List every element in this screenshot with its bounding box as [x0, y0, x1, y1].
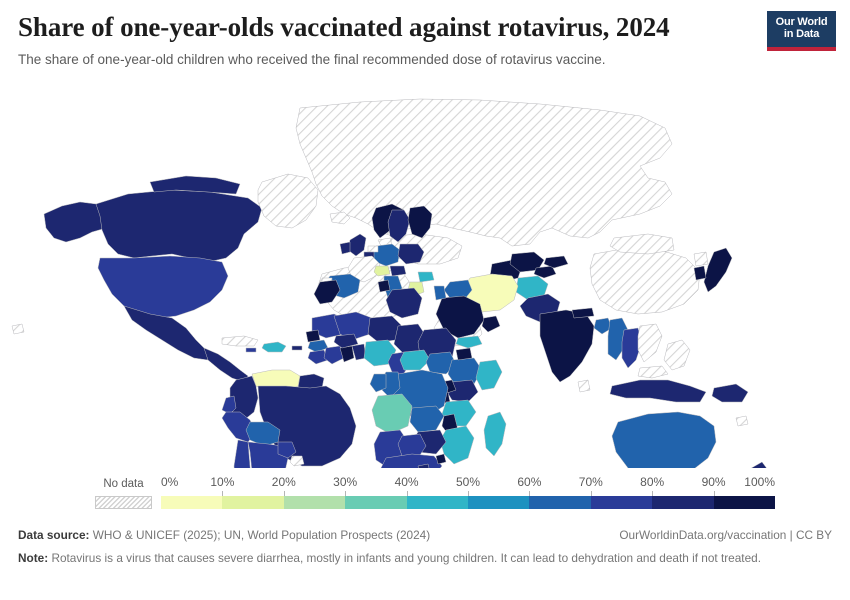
world-map-svg[interactable]	[0, 86, 850, 468]
legend-tick-mark	[591, 491, 592, 496]
country-kyrgyzstan[interactable]	[544, 256, 568, 268]
country-indonesia[interactable]	[610, 380, 706, 402]
legend-bin-50-60[interactable]	[468, 496, 529, 509]
legend-tick-label: 40%	[395, 475, 419, 489]
country-oman[interactable]	[482, 316, 500, 332]
country-tunisia[interactable]	[378, 280, 390, 292]
country-united-states[interactable]	[98, 256, 228, 318]
country-south-korea[interactable]	[694, 266, 706, 280]
country-fiji-pacific-islands[interactable]	[736, 416, 748, 426]
country-ghana[interactable]	[340, 346, 354, 362]
country-vietnam-laos-cambodia[interactable]	[638, 324, 662, 362]
owid-link[interactable]: OurWorldinData.org/vaccination | CC BY	[619, 528, 832, 542]
country-cuba[interactable]	[222, 336, 258, 346]
legend-bin-30-40[interactable]	[345, 496, 406, 509]
legend-tick-label: 30%	[333, 475, 357, 489]
country-madagascar[interactable]	[484, 412, 506, 456]
chart-header: Share of one-year-olds vaccinated agains…	[0, 0, 850, 82]
owid-logo[interactable]: Our World in Data	[767, 11, 836, 51]
country-poland[interactable]	[398, 244, 424, 264]
country-small-islands-atlantic[interactable]	[12, 324, 24, 334]
country-sri-lanka[interactable]	[578, 380, 590, 392]
legend-tick-label: 60%	[517, 475, 541, 489]
legend-tick-label: 80%	[640, 475, 664, 489]
country-guinea[interactable]	[308, 340, 328, 352]
legend-tick-label: 100%	[744, 475, 775, 489]
legend-tick-label: 50%	[456, 475, 480, 489]
country-angola[interactable]	[372, 394, 412, 434]
legend-bin-80-90[interactable]	[652, 496, 713, 509]
legend-bin-90-100[interactable]	[714, 496, 775, 509]
country-bulgaria[interactable]	[418, 272, 434, 282]
country-malaysia[interactable]	[638, 366, 668, 378]
legend-no-data-label: No data	[95, 478, 152, 491]
country-yemen[interactable]	[456, 336, 482, 348]
country-austria[interactable]	[390, 266, 406, 276]
country-uruguay[interactable]	[290, 456, 304, 466]
country-somalia[interactable]	[476, 360, 502, 390]
legend-color-scale[interactable]: 0%10%20%30%40%50%60%70%80%90%100%	[161, 496, 775, 509]
data-source-prefix: Data source:	[18, 528, 89, 542]
country-central-african-republic[interactable]	[400, 350, 430, 370]
legend-bin-40-50[interactable]	[407, 496, 468, 509]
legend-tick-mark	[407, 491, 408, 496]
country-australia[interactable]	[612, 412, 716, 468]
legend-tick-label: 0%	[161, 475, 178, 489]
country-puerto-rico[interactable]	[292, 346, 302, 350]
country-zambia[interactable]	[410, 406, 444, 432]
legend-bin-0-10[interactable]	[161, 496, 222, 509]
chart-note: Note: Rotavirus is a virus that causes s…	[18, 550, 778, 567]
country-israel-jordan[interactable]	[434, 286, 446, 300]
chart-subtitle: The share of one-year-old children who r…	[18, 52, 606, 67]
note-text: Rotavirus is a virus that causes severe …	[51, 551, 761, 565]
country-eswatini[interactable]	[436, 454, 446, 464]
legend-tick-label: 70%	[579, 475, 603, 489]
country-jamaica[interactable]	[246, 348, 256, 352]
country-japan[interactable]	[704, 248, 732, 292]
legend-tick-mark	[284, 491, 285, 496]
legend-tick-label: 10%	[210, 475, 234, 489]
country-north-korea[interactable]	[694, 252, 708, 266]
legend-no-data-entry[interactable]: No data	[95, 478, 152, 509]
country-central-america[interactable]	[204, 348, 248, 382]
country-nepal[interactable]	[572, 308, 594, 318]
legend-tick-label: 20%	[272, 475, 296, 489]
country-china[interactable]	[590, 248, 700, 314]
legend-tick-mark	[714, 491, 715, 496]
legend-tick-mark	[468, 491, 469, 496]
legend-tick-mark	[652, 491, 653, 496]
chart-footer: Data source: WHO & UNICEF (2025); UN, Wo…	[0, 528, 850, 600]
country-ireland[interactable]	[340, 242, 350, 254]
data-source-value: WHO & UNICEF (2025); UN, World Populatio…	[93, 528, 430, 542]
map-legend[interactable]: No data 0%10%20%30%40%50%60%70%80%90%100…	[0, 470, 850, 516]
country-eritrea[interactable]	[456, 348, 472, 360]
country-switzerland[interactable]	[374, 266, 390, 276]
country-finland[interactable]	[408, 206, 432, 238]
legend-tick-mark	[529, 491, 530, 496]
country-hispaniola[interactable]	[262, 342, 286, 352]
country-papua-new-guinea[interactable]	[712, 384, 748, 402]
owid-logo-line2: in Data	[784, 29, 819, 41]
country-canada-arctic-islands[interactable]	[150, 176, 240, 194]
legend-bin-70-80[interactable]	[591, 496, 652, 509]
page-title: Share of one-year-olds vaccinated agains…	[18, 12, 670, 43]
legend-tick-mark	[222, 491, 223, 496]
legend-bin-20-30[interactable]	[284, 496, 345, 509]
country-region-nodata-eurasia[interactable]	[296, 99, 672, 246]
country-senegal[interactable]	[306, 330, 320, 342]
country-new-zealand[interactable]	[732, 462, 768, 468]
country-india[interactable]	[540, 310, 594, 382]
legend-no-data-swatch	[95, 496, 152, 509]
world-choropleth-map[interactable]	[0, 86, 850, 468]
country-philippines[interactable]	[664, 340, 690, 370]
country-united-kingdom[interactable]	[348, 234, 366, 256]
legend-bin-10-20[interactable]	[222, 496, 283, 509]
footer-source-row: Data source: WHO & UNICEF (2025); UN, Wo…	[18, 528, 832, 545]
country-netherlands[interactable]	[368, 246, 378, 252]
legend-bin-60-70[interactable]	[529, 496, 590, 509]
legend-tick-mark	[345, 491, 346, 496]
country-mongolia[interactable]	[610, 234, 674, 254]
country-canada[interactable]	[96, 190, 262, 262]
map-country-shapes[interactable]	[12, 99, 768, 468]
country-greenland[interactable]	[258, 174, 318, 228]
legend-tick-label: 90%	[702, 475, 726, 489]
data-source-text: Data source: WHO & UNICEF (2025); UN, Wo…	[18, 528, 430, 542]
note-prefix: Note:	[18, 551, 48, 565]
